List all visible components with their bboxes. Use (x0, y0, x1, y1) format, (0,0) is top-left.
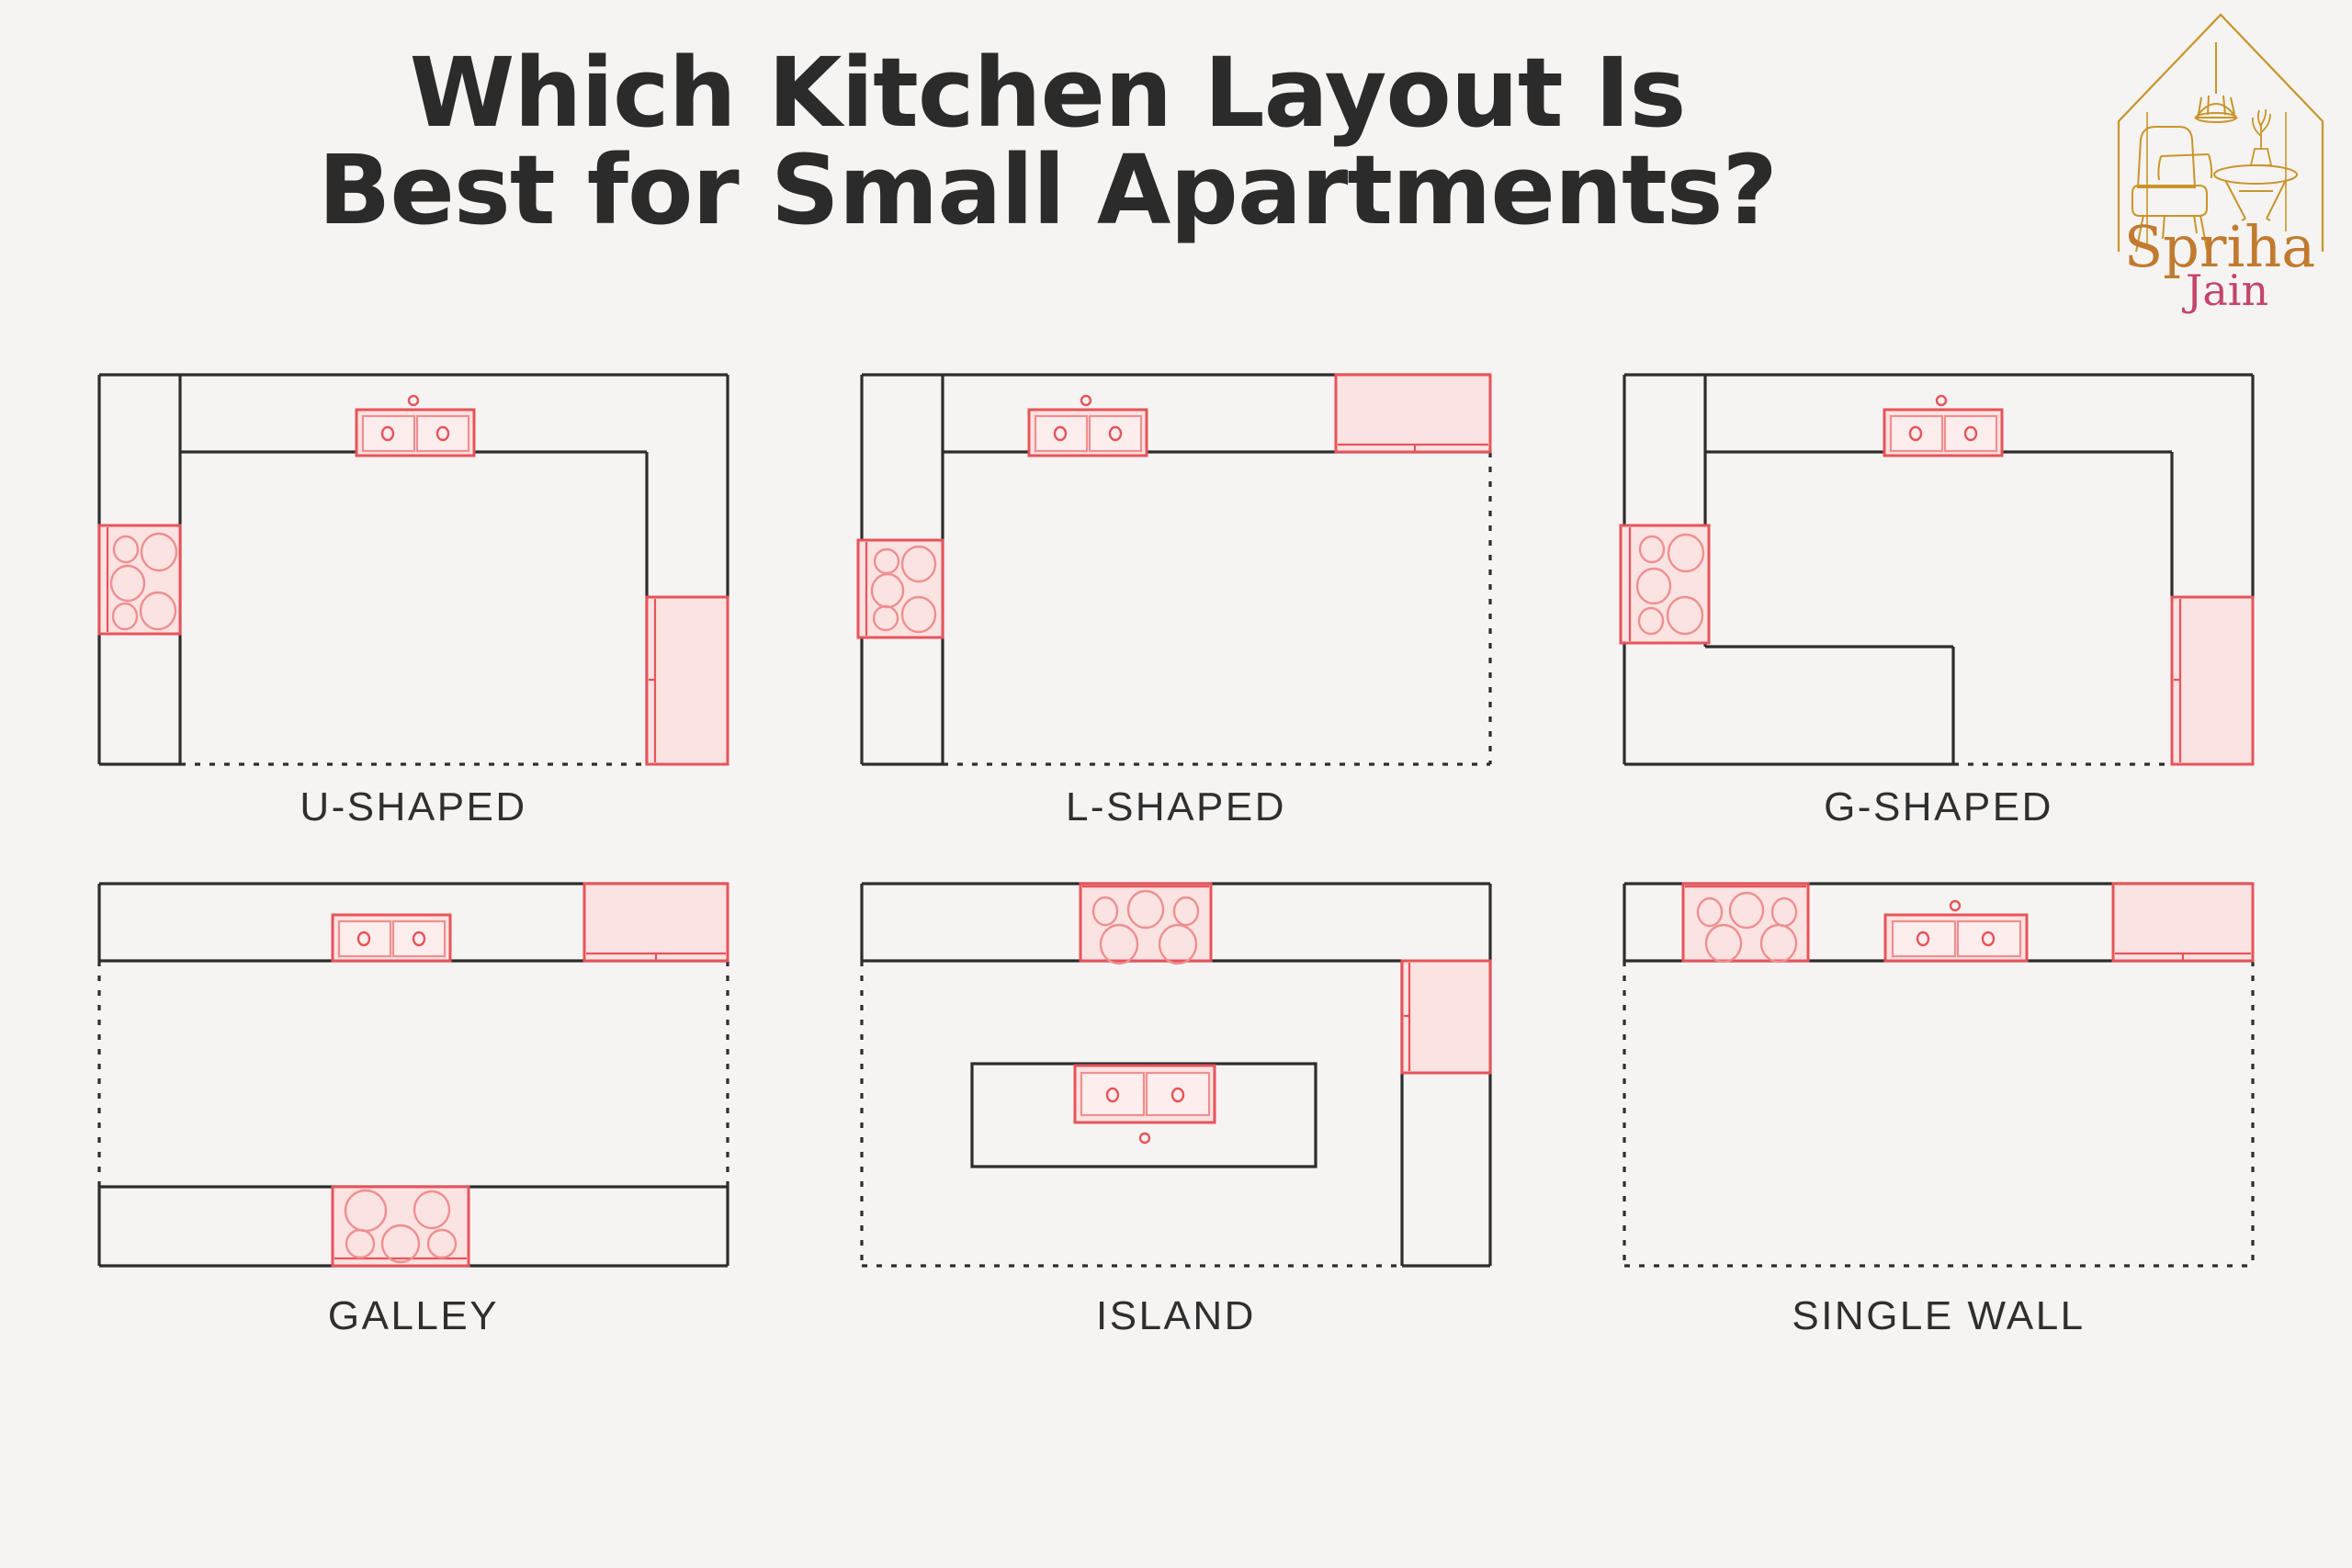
cooktop-icon (858, 540, 943, 637)
cooktop-icon (1683, 884, 1808, 962)
layout-card-single-wall[interactable]: SINGLE WALL (1589, 876, 2288, 1339)
refrigerator-icon (647, 597, 728, 764)
title-line-2: Best for Small Apartments? (0, 141, 2095, 239)
title-line-1: Which Kitchen Layout Is (0, 44, 2095, 141)
layout-card-g-shaped[interactable]: G-SHAPED (1589, 367, 2288, 830)
layout-row-1: U-SHAPED (0, 367, 2352, 830)
side-table-icon (2214, 165, 2297, 220)
sink-icon (356, 396, 474, 456)
layout-label-g-shaped: G-SHAPED (1824, 784, 2053, 830)
refrigerator-icon (2113, 884, 2253, 961)
poster-canvas: Which Kitchen Layout Is Best for Small A… (0, 0, 2352, 1568)
sink-icon (1029, 396, 1147, 456)
layout-label-galley: GALLEY (328, 1293, 499, 1339)
layout-grid: U-SHAPED (0, 367, 2352, 1339)
cooktop-icon (1080, 884, 1211, 964)
layout-label-l-shaped: L-SHAPED (1066, 784, 1286, 830)
layout-card-l-shaped[interactable]: L-SHAPED (827, 367, 1525, 830)
diagram-g-shaped (1617, 367, 2260, 772)
layout-label-single-wall: SINGLE WALL (1792, 1293, 2085, 1339)
sink-icon (1075, 1066, 1215, 1143)
cooktop-icon (1621, 525, 1709, 643)
sink-icon (1885, 901, 2027, 961)
layout-card-galley[interactable]: GALLEY (64, 876, 763, 1339)
refrigerator-icon (1336, 375, 1490, 452)
diagram-island (854, 876, 1498, 1280)
cooktop-icon (333, 1187, 469, 1266)
logo-artwork: Spriha Jain (2106, 2, 2335, 323)
layout-label-island: ISLAND (1096, 1293, 1256, 1339)
pendant-lamp-icon (2196, 42, 2236, 122)
refrigerator-icon (584, 884, 728, 961)
sink-icon (333, 915, 450, 961)
layout-card-u-shaped[interactable]: U-SHAPED (64, 367, 763, 830)
cooktop-icon (99, 525, 180, 634)
layout-card-island[interactable]: ISLAND (827, 876, 1525, 1339)
refrigerator-icon (1402, 961, 1490, 1073)
layout-label-u-shaped: U-SHAPED (300, 784, 526, 830)
diagram-galley (92, 876, 735, 1280)
sink-icon (1884, 396, 2002, 456)
potted-plant-icon (2251, 109, 2271, 165)
diagram-l-shaped (854, 367, 1498, 772)
diagram-u-shaped (92, 367, 735, 772)
brand-logo: Spriha Jain (2106, 2, 2335, 323)
layout-row-2: GALLEY (0, 876, 2352, 1339)
page-title: Which Kitchen Layout Is Best for Small A… (0, 44, 2095, 239)
diagram-single-wall (1617, 876, 2260, 1280)
refrigerator-icon (2172, 597, 2253, 764)
logo-brand-surname: Jain (2182, 265, 2268, 315)
